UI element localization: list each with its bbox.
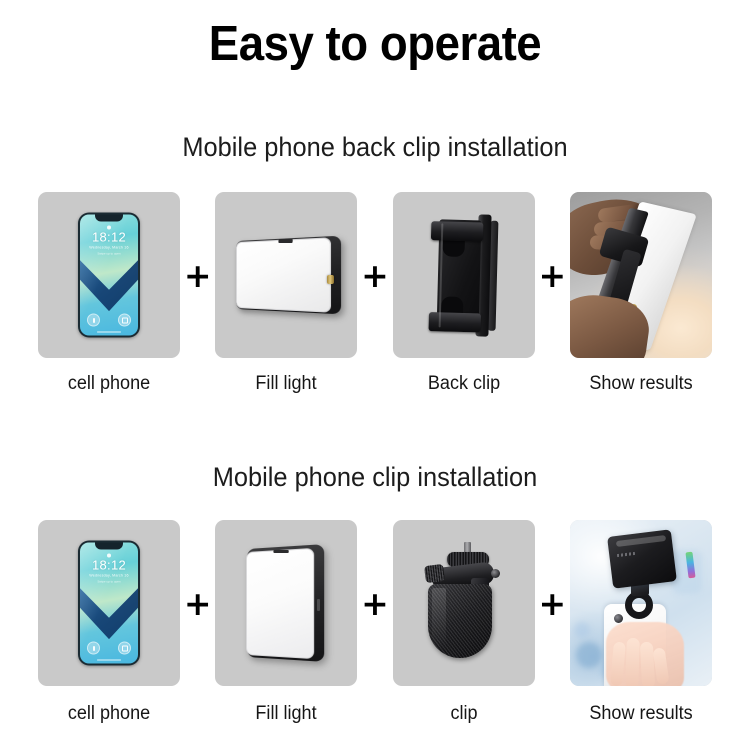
finger bbox=[640, 642, 655, 686]
flashlight-glyph bbox=[93, 318, 95, 323]
fill-light-panel-icon bbox=[234, 233, 338, 317]
home-indicator bbox=[97, 331, 121, 333]
lockscreen-time: 18:12 bbox=[80, 559, 138, 573]
step-label-back-clip: Back clip bbox=[396, 372, 531, 396]
step-label-clip: clip bbox=[396, 702, 531, 726]
bokeh-light bbox=[576, 642, 602, 668]
step-tile-back-clip bbox=[393, 192, 535, 358]
plus-separator: + bbox=[361, 587, 389, 620]
step-tile-cell-phone: 18:12 Wednesday, March 16 Swipe up to op… bbox=[38, 192, 180, 358]
step-tile-clip bbox=[393, 520, 535, 686]
step-label-fill-light: Fill light bbox=[219, 702, 354, 726]
fill-light-top-strip bbox=[274, 550, 289, 553]
result-photo-icon bbox=[570, 520, 712, 686]
home-indicator bbox=[97, 659, 121, 661]
camera-glyph bbox=[122, 317, 128, 323]
plus-separator: + bbox=[538, 587, 566, 620]
step-tile-fill-light bbox=[215, 192, 357, 358]
camera-glyph bbox=[122, 645, 128, 651]
section-heading-back-clip: Mobile phone back clip installation bbox=[23, 130, 728, 164]
bokeh-light bbox=[574, 622, 590, 638]
step-tile-fill-light bbox=[215, 520, 357, 686]
step-tile-cell-phone: 18:12 Wednesday, March 16 Swipe up to op… bbox=[38, 520, 180, 686]
finger bbox=[625, 638, 640, 686]
step-tile-show-results bbox=[570, 192, 712, 358]
page-title: Easy to operate bbox=[26, 14, 724, 74]
lockscreen-date: Wednesday, March 16 bbox=[80, 246, 138, 251]
phone-notch bbox=[95, 543, 123, 550]
step-row-back-clip: 18:12 Wednesday, March 16 Swipe up to op… bbox=[38, 192, 712, 358]
clip-tension-knob bbox=[424, 564, 445, 583]
fill-light-top-strip bbox=[279, 239, 293, 243]
smartphone-icon: 18:12 Wednesday, March 16 Swipe up to op… bbox=[78, 213, 140, 338]
camera-button bbox=[118, 642, 131, 655]
result-photo-icon bbox=[570, 192, 712, 358]
section-heading-clip: Mobile phone clip installation bbox=[23, 460, 728, 494]
lockscreen-date: Wednesday, March 16 bbox=[80, 574, 138, 579]
phone-screen: 18:12 Wednesday, March 16 Swipe up to op… bbox=[80, 215, 138, 336]
back-clip-bottom-jaw bbox=[428, 312, 480, 332]
step-tile-show-results bbox=[570, 520, 712, 686]
fill-light-gold-connector bbox=[327, 275, 334, 284]
lockscreen-time: 18:12 bbox=[80, 231, 138, 245]
fill-light-panel-portrait-icon bbox=[243, 547, 329, 659]
plus-separator: + bbox=[184, 587, 212, 620]
step-label-show-results: Show results bbox=[573, 372, 708, 396]
phone-camera-lens bbox=[614, 614, 623, 623]
plus-separator: + bbox=[538, 259, 566, 292]
plus-separator: + bbox=[361, 259, 389, 292]
clip-pad-highlight bbox=[432, 588, 446, 650]
clip-pivot-eye bbox=[491, 569, 500, 578]
back-clip-top-notch bbox=[442, 240, 464, 257]
fill-light-diffuser bbox=[246, 547, 314, 658]
phone-screen: 18:12 Wednesday, March 16 Swipe up to op… bbox=[80, 543, 138, 664]
step-label-row-back-clip: cell phone Fill light Back clip Show res… bbox=[38, 372, 712, 396]
step-label-fill-light: Fill light bbox=[219, 372, 354, 396]
flashlight-glyph bbox=[93, 646, 95, 651]
back-clip-top-jaw bbox=[431, 221, 483, 241]
plus-separator: + bbox=[184, 259, 212, 292]
back-clip-bracket-icon bbox=[426, 211, 501, 339]
fill-light-side-button bbox=[317, 599, 320, 611]
flashlight-button bbox=[87, 314, 100, 327]
lockscreen-hint: Swipe up to open bbox=[80, 580, 138, 584]
camera-button bbox=[118, 314, 131, 327]
flashlight-button bbox=[87, 642, 100, 655]
lockscreen-hint: Swipe up to open bbox=[80, 252, 138, 256]
lens-clip-icon bbox=[414, 538, 514, 668]
step-label-cell-phone: cell phone bbox=[42, 702, 177, 726]
fill-light-diffuser bbox=[236, 237, 331, 312]
step-row-clip: 18:12 Wednesday, March 16 Swipe up to op… bbox=[38, 520, 712, 686]
infographic-page: Easy to operate Mobile phone back clip i… bbox=[0, 0, 750, 750]
phone-notch bbox=[95, 215, 123, 222]
smartphone-icon: 18:12 Wednesday, March 16 Swipe up to op… bbox=[78, 541, 140, 666]
back-clip-bottom-notch bbox=[441, 296, 463, 313]
step-label-show-results: Show results bbox=[573, 702, 708, 726]
step-label-cell-phone: cell phone bbox=[42, 372, 177, 396]
step-label-row-clip: cell phone Fill light clip Show results bbox=[38, 702, 712, 726]
